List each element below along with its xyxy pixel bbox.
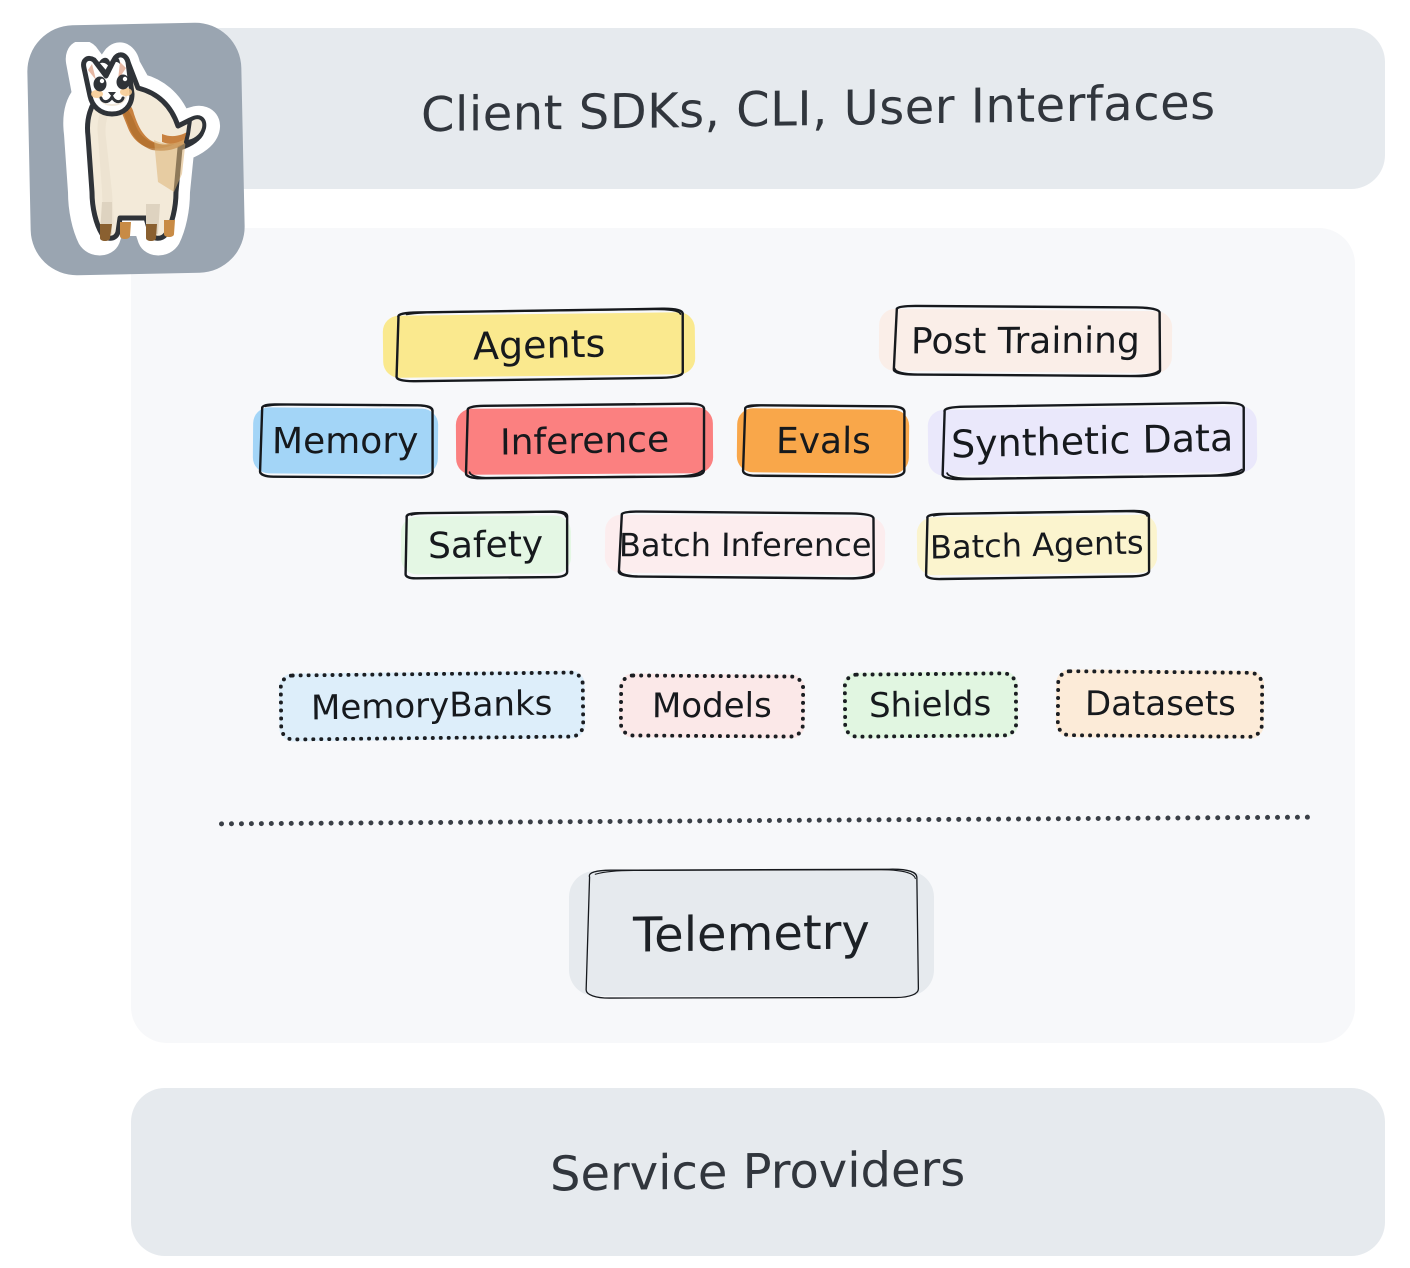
resource-box-label: MemoryBanks <box>311 683 553 728</box>
resource-box-label: Datasets <box>1084 684 1235 724</box>
resource-box-memorybanks[interactable]: MemoryBanks <box>279 670 586 741</box>
api-box-label: Evals <box>775 420 870 461</box>
api-box-label: Post Training <box>911 320 1140 362</box>
header-band: Client SDKs, CLI, User Interfaces <box>131 28 1385 189</box>
footer-title: Service Providers <box>550 1141 965 1202</box>
api-box-label: Memory <box>272 420 419 462</box>
api-box-evals[interactable]: Evals <box>737 408 910 474</box>
api-box-label: Inference <box>500 419 669 463</box>
telemetry-label: Telemetry <box>633 904 870 963</box>
llama-logo <box>26 22 245 276</box>
api-box-synthetic-data[interactable]: Synthetic Data <box>928 406 1258 476</box>
telemetry-box[interactable]: Telemetry <box>569 871 934 996</box>
api-box-post-training[interactable]: Post Training <box>879 309 1173 374</box>
api-box-label: Agents <box>473 321 606 368</box>
api-box-batch-inference[interactable]: Batch Inference <box>605 515 886 576</box>
api-box-label: Batch Agents <box>930 523 1144 566</box>
resource-box-shields[interactable]: Shields <box>843 671 1019 739</box>
api-box-batch-agents[interactable]: Batch Agents <box>917 515 1158 576</box>
resource-box-label: Models <box>652 686 772 726</box>
header-title: Client SDKs, CLI, User Interfaces <box>421 74 1216 142</box>
diagram-canvas: Client SDKs, CLI, User Interfaces <box>0 0 1410 1268</box>
resource-box-label: Shields <box>869 684 992 726</box>
api-box-label: Synthetic Data <box>951 416 1234 467</box>
footer-band: Service Providers <box>131 1088 1385 1256</box>
api-box-label: Batch Inference <box>619 526 872 564</box>
resource-box-models[interactable]: Models <box>619 673 805 738</box>
api-box-safety[interactable]: Safety <box>401 515 571 574</box>
api-box-label: Safety <box>428 523 543 566</box>
api-box-inference[interactable]: Inference <box>456 407 713 475</box>
api-surface-panel: AgentsPost TrainingMemoryInferenceEvalsS… <box>131 228 1355 1043</box>
section-divider <box>219 815 1311 827</box>
llama-icon <box>46 42 226 256</box>
api-box-agents[interactable]: Agents <box>383 312 696 378</box>
resource-box-datasets[interactable]: Datasets <box>1056 669 1265 739</box>
api-box-memory[interactable]: Memory <box>253 407 439 475</box>
